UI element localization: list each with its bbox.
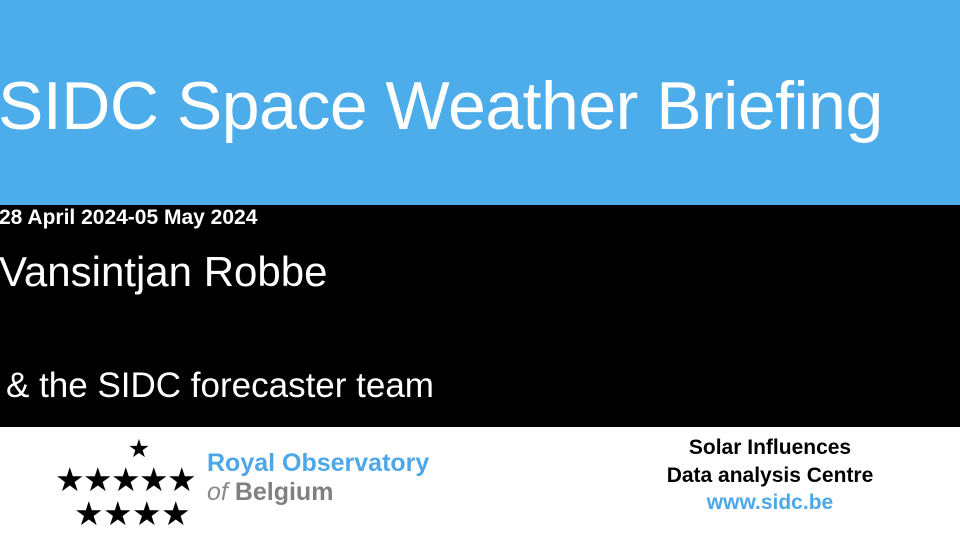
header-band: SIDC Space Weather Briefing <box>0 0 960 205</box>
presenter-name: Vansintjan Robbe <box>0 251 327 293</box>
star-row-middle: ★ ★ ★ ★ ★ <box>55 463 195 496</box>
page-title: SIDC Space Weather Briefing <box>0 72 883 140</box>
star-row-top: ★ <box>55 437 195 462</box>
star-icon: ★ <box>132 497 161 530</box>
sidc-website-link[interactable]: www.sidc.be <box>620 489 920 517</box>
royal-observatory-text: Royal Observatory of Belgium <box>207 449 429 507</box>
star-icon: ★ <box>74 497 103 530</box>
royal-observatory-line1: Royal Observatory <box>207 449 429 478</box>
date-range-label: 28 April 2024-05 May 2024 <box>0 207 257 228</box>
body-band: 28 April 2024-05 May 2024 Vansintjan Rob… <box>0 205 960 427</box>
star-cluster-icon: ★ ★ ★ ★ ★ ★ ★ ★ ★ ★ <box>55 437 195 523</box>
royal-observatory-line2: of Belgium <box>207 478 429 507</box>
presentation-slide: SIDC Space Weather Briefing 28 April 202… <box>0 0 960 540</box>
star-icon: ★ <box>103 497 132 530</box>
star-icon: ★ <box>111 463 139 496</box>
star-row-bottom: ★ ★ ★ ★ <box>55 497 195 530</box>
star-icon: ★ <box>167 463 195 496</box>
star-icon: ★ <box>139 463 167 496</box>
royal-observatory-logo: ★ ★ ★ ★ ★ ★ ★ ★ ★ ★ Royal Observatory <box>55 437 429 523</box>
royal-observatory-country: Belgium <box>235 478 334 506</box>
sidc-line-2: Data analysis Centre <box>620 462 920 490</box>
forecaster-team-label: & the SIDC forecaster team <box>6 368 434 403</box>
royal-observatory-of: of <box>207 478 228 506</box>
sidc-line-1: Solar Influences <box>620 434 920 462</box>
star-icon: ★ <box>161 497 190 530</box>
sidc-credit-block: Solar Influences Data analysis Centre ww… <box>620 434 920 517</box>
star-icon: ★ <box>83 463 111 496</box>
star-icon: ★ <box>55 463 83 496</box>
footer-band: ★ ★ ★ ★ ★ ★ ★ ★ ★ ★ Royal Observatory <box>0 427 960 540</box>
star-icon: ★ <box>126 437 153 462</box>
